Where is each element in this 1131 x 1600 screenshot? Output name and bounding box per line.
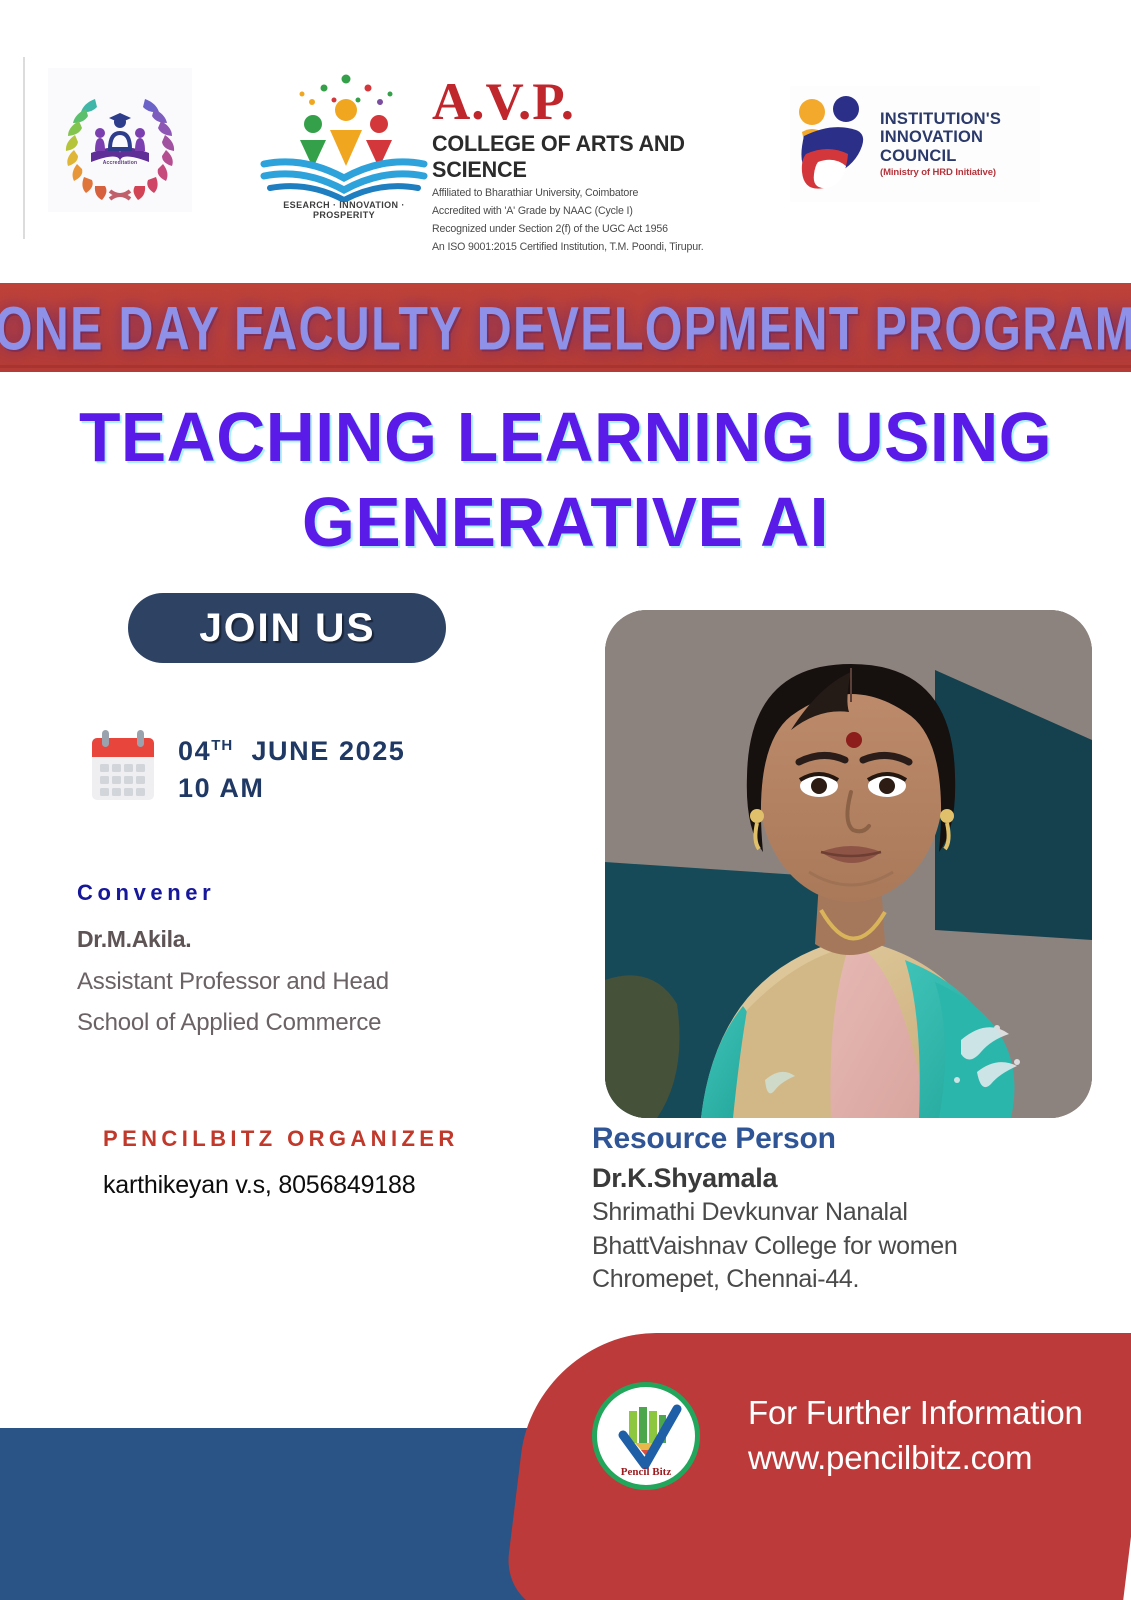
- event-date: 04TH JUNE 2025: [178, 736, 405, 767]
- avp-sub-line-3: Recognized under Section 2(f) of the UGC…: [432, 222, 772, 237]
- poster-root: Accreditation: [0, 0, 1131, 1600]
- organizer-block: PENCILBITZ ORGANIZER karthikeyan v.s, 80…: [103, 1126, 573, 1200]
- avp-initials: A.V.P.: [432, 78, 772, 127]
- calendar-icon: [86, 728, 160, 806]
- footer-info-lines: For Further Information www.pencilbitz.c…: [748, 1391, 1083, 1480]
- join-us-label: JOIN US: [199, 606, 375, 651]
- avp-people-book-icon: [258, 72, 430, 202]
- resource-person-photo: [605, 610, 1092, 1118]
- footer-info-heading: For Further Information: [748, 1391, 1083, 1436]
- event-date-rest: JUNE 2025: [251, 736, 405, 766]
- resource-person-affiliation-line-1: Shrimathi Devkunvar Nanalal: [592, 1197, 1092, 1228]
- resource-person-affiliation-line-3: Chromepet, Chennai-44.: [592, 1264, 1092, 1295]
- footer-content: Pencil Bitz For Further Information www.…: [592, 1382, 1083, 1490]
- iic-ministry-note: (Ministry of HRD Initiative): [880, 167, 1001, 178]
- pencil-bitz-checkmark-icon: Pencil Bitz: [599, 1389, 693, 1483]
- program-banner-text: ONE DAY FACULTY DEVELOPMENT PROGRAM: [0, 292, 1131, 364]
- pencil-bitz-logo: Pencil Bitz: [592, 1382, 700, 1490]
- event-datetime-text: 04TH JUNE 2025 10 AM: [178, 728, 405, 804]
- resource-person-block: Resource Person Dr.K.Shyamala Shrimathi …: [592, 1122, 1092, 1295]
- iic-text-block: INSTITUTION'S INNOVATION COUNCIL (Minist…: [880, 110, 1001, 178]
- avp-college-name: COLLEGE OF ARTS AND SCIENCE: [432, 131, 758, 183]
- poster-title: TEACHING LEARNING USING GENERATIVE AI: [17, 395, 1114, 566]
- convener-name: Dr.M.Akila.: [77, 926, 547, 953]
- convener-role-line-1: Assistant Professor and Head: [77, 970, 547, 994]
- poster-title-line-1: TEACHING LEARNING USING: [17, 395, 1114, 480]
- event-time: 10 AM: [178, 773, 405, 804]
- avp-emblem: ESEARCH · INNOVATION · PROSPERITY: [258, 72, 430, 222]
- laurel-wreath-graduates-icon: [55, 75, 185, 205]
- event-date-day: 04: [178, 736, 211, 766]
- resource-person-heading: Resource Person: [592, 1122, 1092, 1156]
- convener-block: Convener Dr.M.Akila. Assistant Professor…: [77, 880, 547, 1036]
- resource-person-name: Dr.K.Shyamala: [592, 1163, 1092, 1194]
- organizer-heading: PENCILBITZ ORGANIZER: [103, 1126, 573, 1152]
- avp-sub-line-2: Accredited with 'A' Grade by NAAC (Cycle…: [432, 204, 772, 219]
- organizer-contact: karthikeyan v.s, 8056849188: [103, 1171, 573, 1200]
- iic-figures-icon: [790, 92, 876, 196]
- poster-title-line-2: GENERATIVE AI: [17, 480, 1114, 565]
- iic-line-3: COUNCIL: [880, 147, 1001, 165]
- accreditation-logo: Accreditation: [48, 68, 192, 212]
- avp-sub-line-1: Affiliated to Bharathiar University, Coi…: [432, 186, 772, 201]
- iic-line-2: INNOVATION: [880, 128, 1001, 146]
- avp-emblem-caption: ESEARCH · INNOVATION · PROSPERITY: [258, 200, 430, 220]
- event-date-ordinal: TH: [211, 737, 233, 754]
- header-divider: [23, 57, 25, 239]
- avp-text-block: A.V.P. COLLEGE OF ARTS AND SCIENCE Affil…: [432, 78, 772, 255]
- event-datetime: 04TH JUNE 2025 10 AM: [86, 728, 405, 806]
- footer-website[interactable]: www.pencilbitz.com: [748, 1436, 1083, 1481]
- convener-role-line-2: School of Applied Commerce: [77, 1011, 547, 1035]
- svg-text:Pencil Bitz: Pencil Bitz: [621, 1466, 672, 1478]
- resource-person-portrait-icon: [605, 610, 1092, 1118]
- accreditation-logo-caption: Accreditation: [48, 160, 192, 166]
- resource-person-affiliation-line-2: BhattVaishnav College for women: [592, 1231, 1092, 1262]
- header-logo-strip: Accreditation: [0, 0, 1131, 270]
- iic-line-1: INSTITUTION'S: [880, 110, 1001, 128]
- avp-sub-line-4: An ISO 9001:2015 Certified Institution, …: [432, 240, 772, 255]
- program-banner: ONE DAY FACULTY DEVELOPMENT PROGRAM: [0, 283, 1131, 372]
- iic-logo: INSTITUTION'S INNOVATION COUNCIL (Minist…: [790, 86, 1040, 202]
- convener-heading: Convener: [77, 880, 547, 906]
- join-us-button[interactable]: JOIN US: [128, 593, 446, 663]
